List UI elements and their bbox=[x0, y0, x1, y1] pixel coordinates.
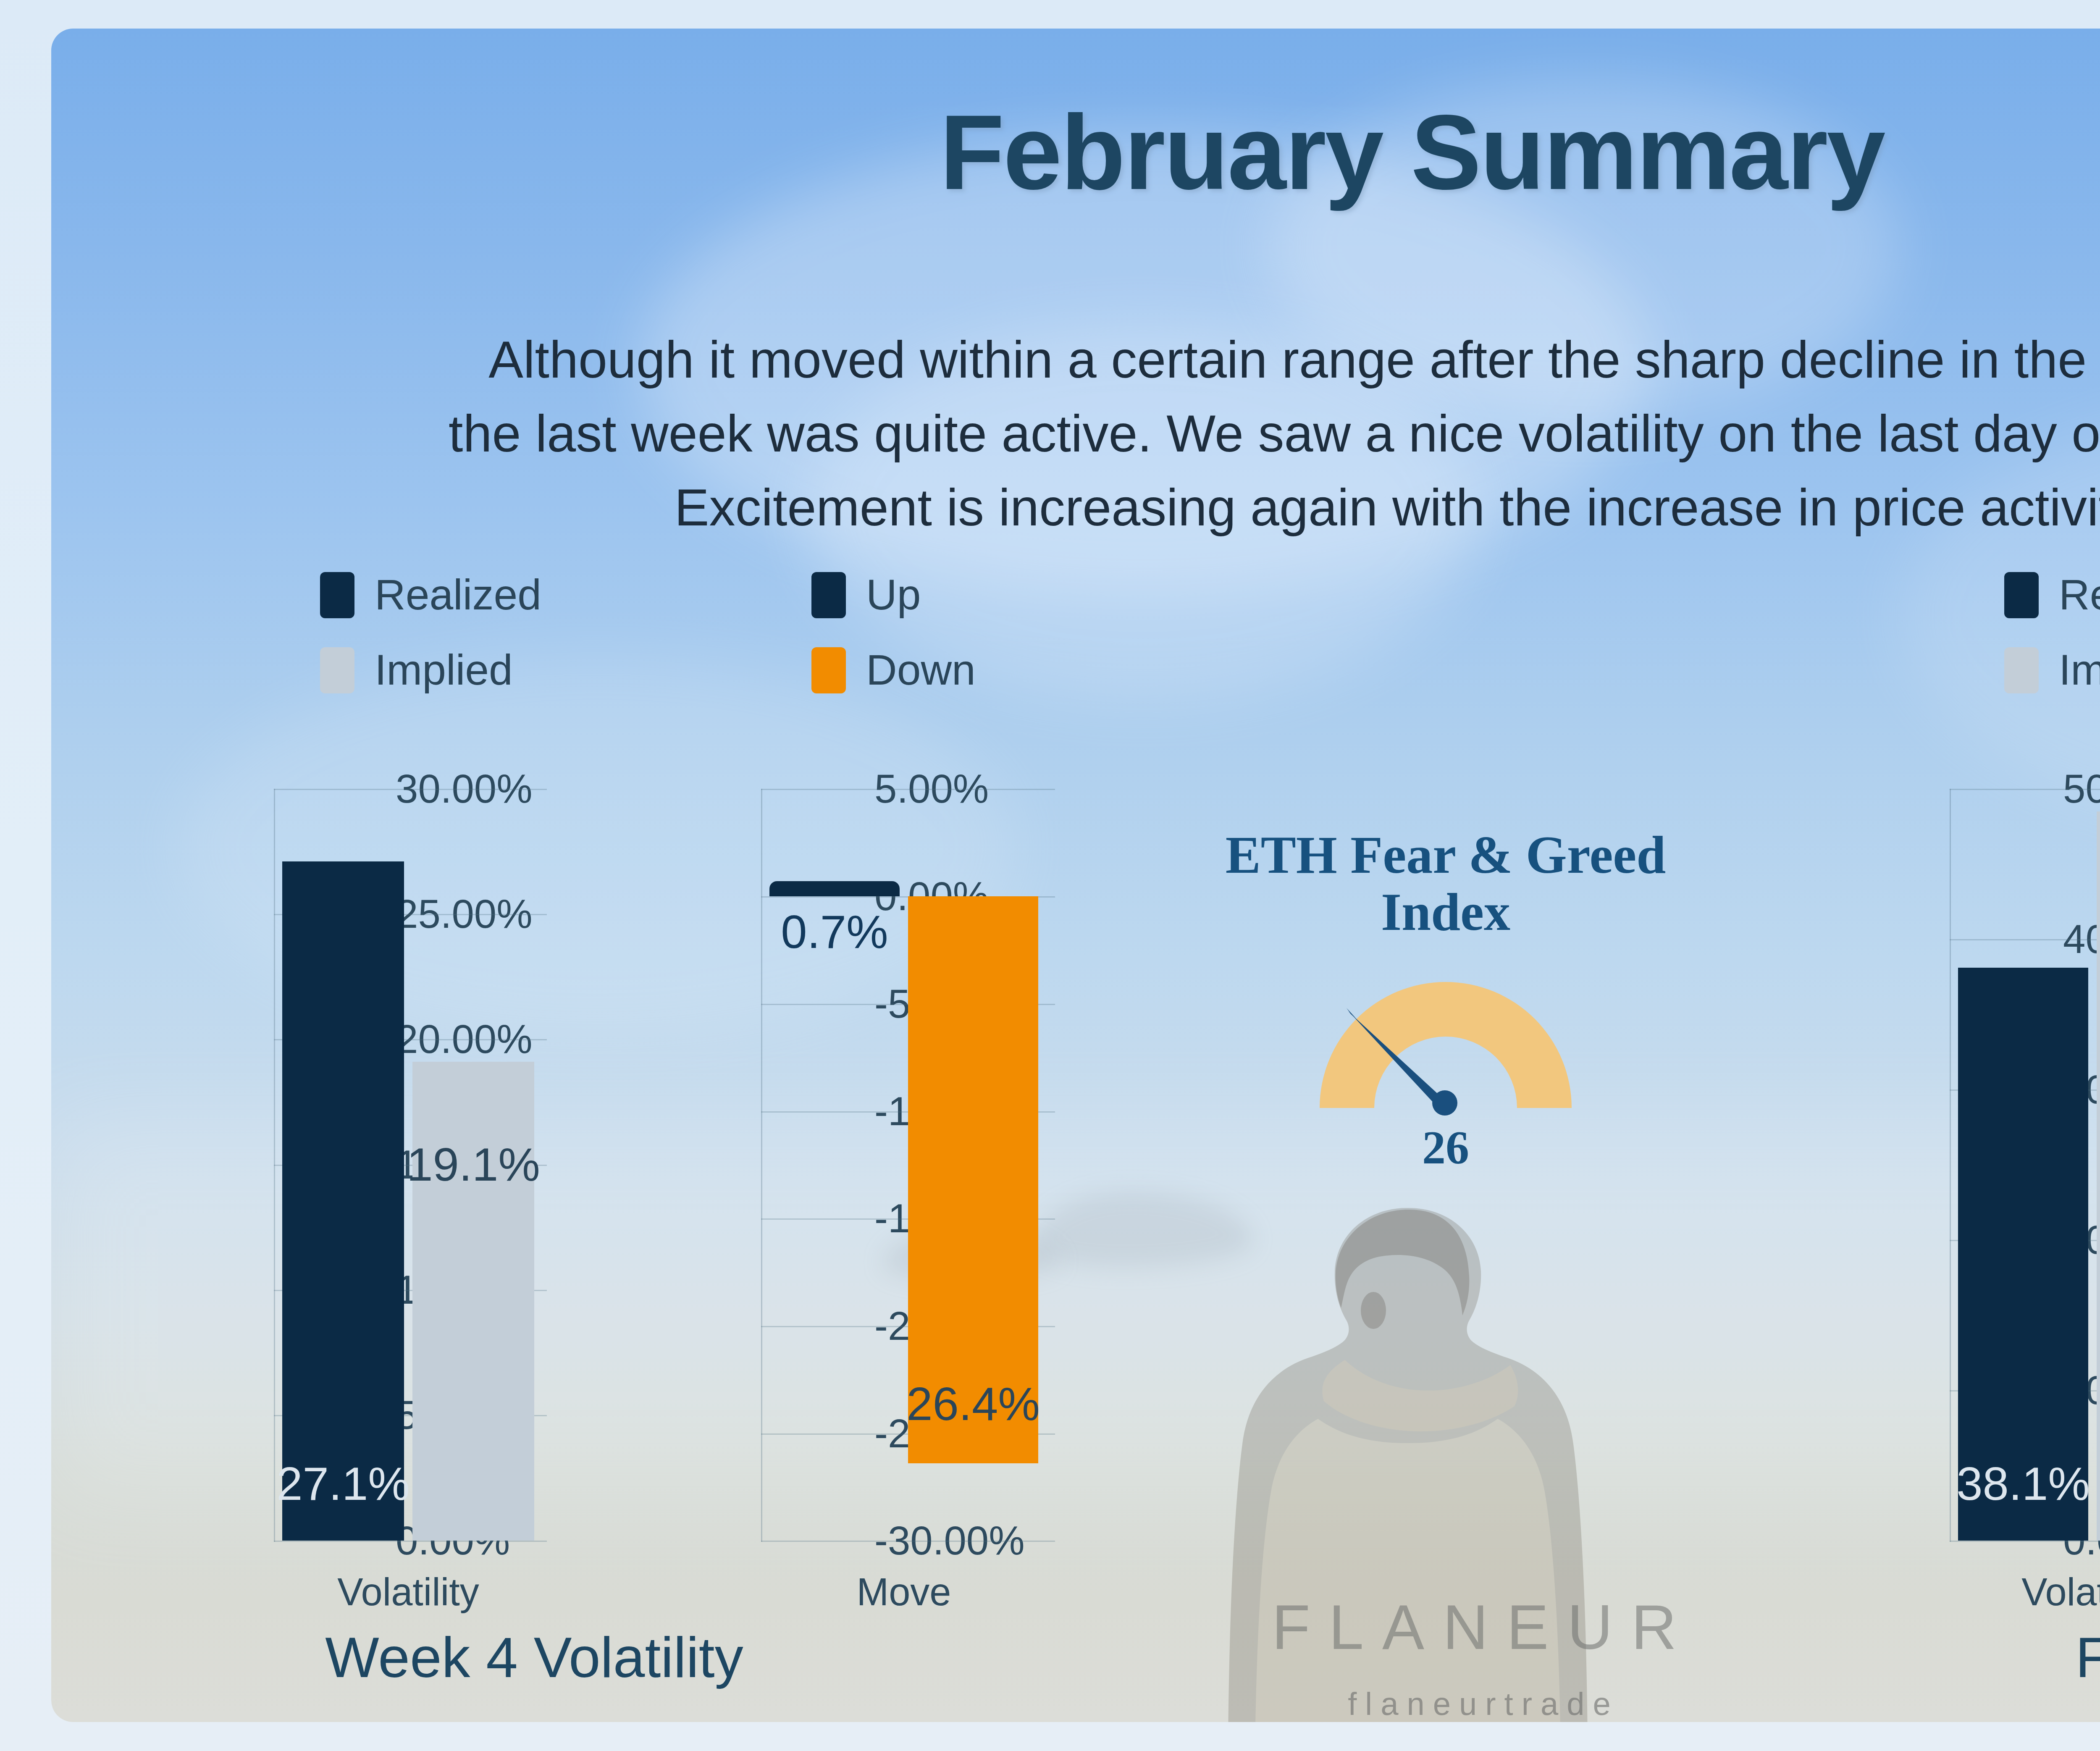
person-silhouette-image bbox=[1219, 1200, 1597, 1722]
chart-february-volatility: Realized Implied 50.00% 40.00% 30.00% 20… bbox=[1752, 570, 2100, 1578]
plot-area: 50.00% 40.00% 30.00% 20.00% 10.00% 0.00%… bbox=[1752, 570, 2100, 1578]
bar-up[interactable] bbox=[769, 881, 900, 896]
eth-fear-greed-gauge: ETH Fear & Greed Index 26 bbox=[1181, 827, 1710, 1205]
gridline bbox=[1950, 1541, 2100, 1542]
bar-value-label: 0.7% bbox=[781, 905, 888, 959]
bar-realized[interactable] bbox=[1958, 968, 2088, 1541]
gauge-value: 26 bbox=[1181, 1121, 1710, 1175]
page-title: February Summary bbox=[51, 92, 2100, 213]
paragraph-line-1: Although it moved within a certain range… bbox=[51, 323, 2100, 396]
chart-week4-volatility: Realized Implied 30.00% 25.00% 20.00% 15… bbox=[93, 570, 564, 1578]
gridline bbox=[761, 1541, 1055, 1542]
y-axis-line bbox=[274, 789, 275, 1542]
panel-title-february: February Volatility bbox=[2076, 1625, 2100, 1690]
bar-value-label: 19.1% bbox=[407, 1137, 540, 1192]
bar-value-label: 26.4% bbox=[906, 1377, 1040, 1431]
brand-watermark: FLANEUR flaneurtrade bbox=[1177, 1591, 1790, 1722]
y-axis-line bbox=[761, 789, 762, 1542]
gridline bbox=[761, 789, 1055, 790]
summary-paragraph: Although it moved within a certain range… bbox=[51, 323, 2100, 544]
gridline bbox=[274, 789, 547, 790]
watermark-brand-name: FLANEUR bbox=[1177, 1591, 1790, 1664]
panel-title-week4: Week 4 Volatility bbox=[325, 1625, 743, 1690]
plot-area: 5.00% 0.00% -5.00% -10.00% -15.00% -20.0… bbox=[564, 570, 1059, 1578]
gauge-arc bbox=[1320, 982, 1572, 1108]
paragraph-line-3: Excitement is increasing again with the … bbox=[51, 470, 2100, 544]
gridline bbox=[1950, 789, 2100, 790]
x-axis-label: Volatility bbox=[337, 1570, 479, 1614]
gridline bbox=[274, 1541, 547, 1542]
x-axis-label: Move bbox=[857, 1570, 951, 1614]
plot-area: 30.00% 25.00% 20.00% 15.00% 10.00% 5.00%… bbox=[93, 570, 564, 1578]
bar-value-label: 38.1% bbox=[1956, 1457, 2090, 1511]
gauge-dial-icon bbox=[1307, 957, 1584, 1116]
bar-realized[interactable] bbox=[282, 861, 404, 1541]
watermark-handle: flaneurtrade bbox=[1177, 1685, 1790, 1722]
gauge-title: ETH Fear & Greed Index bbox=[1181, 827, 1710, 941]
poster-frame: February Summary Although it moved withi… bbox=[0, 0, 2100, 1751]
bar-implied[interactable] bbox=[412, 1062, 534, 1541]
poster-card: February Summary Although it moved withi… bbox=[51, 29, 2100, 1722]
gridline bbox=[1950, 939, 2100, 940]
y-axis-line bbox=[1950, 789, 1951, 1542]
x-axis-label: Volatility bbox=[2021, 1570, 2100, 1614]
gauge-title-line-1: ETH Fear & Greed bbox=[1226, 826, 1666, 884]
chart-week4-move: Up Down 5.00% 0.00% -5.00% -10.00% -15.0… bbox=[564, 570, 1059, 1578]
gauge-title-line-2: Index bbox=[1381, 883, 1510, 941]
paragraph-line-2: the last week was quite active. We saw a… bbox=[51, 396, 2100, 470]
bar-value-label: 27.1% bbox=[276, 1457, 410, 1511]
bar-implied[interactable] bbox=[2097, 811, 2100, 1541]
